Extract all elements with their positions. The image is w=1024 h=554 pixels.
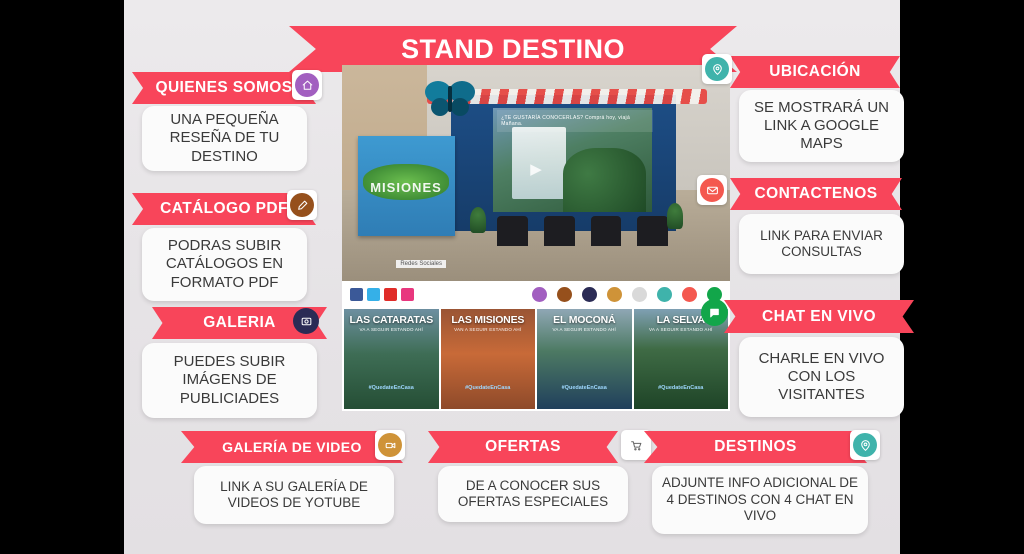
youtube-icon[interactable] <box>384 288 397 301</box>
instagram-icon[interactable] <box>401 288 414 301</box>
destination-card[interactable]: LAS MISIONES VAN A SEGUIR ESTANDO AHÍ #Q… <box>441 309 536 409</box>
section-body-quienes-somos: UNA PEQUEÑA RESEÑA DE TU DESTINO <box>142 106 307 171</box>
destination-hashtag: #QuedateEnCasa <box>537 385 632 391</box>
section-label-contactenos[interactable]: CONTACTENOS <box>730 178 902 210</box>
label-text: UBICACIÓN <box>769 63 860 81</box>
social-network-icons <box>350 288 414 301</box>
label-text: CATÁLOGO PDF <box>160 200 288 218</box>
image-icon[interactable] <box>582 287 597 302</box>
body-text: PUEDES SUBIR IMÁGENS DE PUBLICIADES <box>150 353 309 408</box>
location-pin-icon-badge[interactable] <box>702 54 732 84</box>
destination-subtitle: VA A SEGUIR ESTANDO AHÍ <box>634 327 729 332</box>
label-text: GALERIA <box>203 314 276 332</box>
location-pin-icon[interactable] <box>853 433 877 457</box>
facebook-icon[interactable] <box>350 288 363 301</box>
label-text: DESTINOS <box>714 438 796 456</box>
social-links-bar <box>342 281 730 307</box>
destination-title: LAS CATARATAS <box>344 314 439 326</box>
misiones-poster[interactable]: MISIONES <box>358 136 455 235</box>
image-icon[interactable] <box>293 308 319 334</box>
stand-plant-right <box>667 203 683 229</box>
label-text: OFERTAS <box>485 438 561 456</box>
chat-bubble-icon[interactable] <box>701 299 728 326</box>
body-text: CHARLE EN VIVO CON LOS VISITANTES <box>747 350 896 405</box>
stand-plant-left <box>470 207 486 233</box>
location-pin-icon[interactable] <box>657 287 672 302</box>
section-body-galeria: PUEDES SUBIR IMÁGENS DE PUBLICIADES <box>142 343 317 418</box>
destination-hashtag: #QuedateEnCasa <box>441 385 536 391</box>
destinos-location-pin-icon-badge[interactable] <box>850 430 880 460</box>
label-text: CHAT EN VIVO <box>762 308 876 326</box>
destination-hashtag: #QuedateEnCasa <box>344 385 439 391</box>
section-body-catalogo-pdf: PODRAS SUBIR CATÁLOGOS EN FORMATO PDF <box>142 228 307 301</box>
section-body-destinos: ADJUNTE INFO ADICIONAL DE 4 DESTINOS CON… <box>652 466 868 534</box>
label-text: CONTACTENOS <box>755 185 878 203</box>
destination-cards: LAS CATARATAS VA A SEGUIR ESTANDO AHÍ #Q… <box>342 307 730 411</box>
body-text: ADJUNTE INFO ADICIONAL DE 4 DESTINOS CON… <box>660 475 860 524</box>
section-label-galeria-de-video[interactable]: GALERÍA DE VIDEO <box>181 431 403 463</box>
body-text: LINK PARA ENVIAR CONSULTAS <box>747 228 896 261</box>
label-text: QUIENES SOMOS <box>156 79 293 97</box>
home-icon[interactable] <box>532 287 547 302</box>
location-pin-icon[interactable] <box>705 57 729 81</box>
destination-subtitle: VA A SEGUIR ESTANDO AHÍ <box>344 327 439 332</box>
page-title-text: STAND DESTINO <box>401 34 625 65</box>
image-icon-badge[interactable] <box>293 308 319 334</box>
video-camera-icon-badge[interactable] <box>375 430 405 460</box>
pencil-icon[interactable] <box>290 193 314 217</box>
virtual-stand-image[interactable]: ¿TE GUSTARÍA CONOCERLAS? Comprá hoy, via… <box>342 65 730 281</box>
stand-feature-icons <box>532 287 722 302</box>
twitter-icon[interactable] <box>367 288 380 301</box>
label-text: GALERÍA DE VIDEO <box>222 439 362 455</box>
slide-canvas: STAND DESTINO ¿TE GUSTARÍA CONOCERLAS? C… <box>124 0 900 554</box>
poster-title: MISIONES <box>358 180 455 195</box>
section-body-contactenos: LINK PARA ENVIAR CONSULTAS <box>739 214 904 274</box>
body-text: SE MOSTRARÁ UN LINK A GOOGLE MAPS <box>747 99 896 154</box>
envelope-icon[interactable] <box>682 287 697 302</box>
destination-subtitle: VAN A SEGUIR ESTANDO AHÍ <box>441 327 536 332</box>
body-text: PODRAS SUBIR CATÁLOGOS EN FORMATO PDF <box>150 237 299 292</box>
jungle-graphic <box>563 148 646 212</box>
section-body-chat-en-vivo: CHARLE EN VIVO CON LOS VISITANTES <box>739 337 904 417</box>
destination-card[interactable]: LAS CATARATAS VA A SEGUIR ESTANDO AHÍ #Q… <box>344 309 439 409</box>
chat-bubble-icon-badge[interactable] <box>701 299 728 326</box>
pencil-icon[interactable] <box>557 287 572 302</box>
section-body-ubicacion: SE MOSTRARÁ UN LINK A GOOGLE MAPS <box>739 90 904 162</box>
screen-banner-text: ¿TE GUSTARÍA CONOCERLAS? Comprá hoy, via… <box>497 110 652 132</box>
home-icon-badge[interactable] <box>292 70 322 100</box>
play-icon[interactable]: ▶ <box>530 160 542 178</box>
section-label-chat-en-vivo[interactable]: CHAT EN VIVO <box>724 300 914 333</box>
section-label-ubicacion[interactable]: UBICACIÓN <box>730 56 900 88</box>
stand-chairs <box>497 216 668 246</box>
screenshot-stage: STAND DESTINO ¿TE GUSTARÍA CONOCERLAS? C… <box>0 0 1024 554</box>
section-label-ofertas[interactable]: OFERTAS <box>428 431 618 463</box>
video-camera-icon[interactable] <box>607 287 622 302</box>
pencil-icon-badge[interactable] <box>287 190 317 220</box>
shopping-cart-icon-badge[interactable] <box>621 430 651 460</box>
shopping-cart-icon[interactable] <box>624 433 648 457</box>
section-label-destinos[interactable]: DESTINOS <box>644 431 867 463</box>
destination-hashtag: #QuedateEnCasa <box>634 385 729 391</box>
section-body-galeria-de-video: LINK A SU GALERÍA DE VIDEOS DE YOTUBE <box>194 466 394 524</box>
body-text: LINK A SU GALERÍA DE VIDEOS DE YOTUBE <box>202 479 386 512</box>
butterfly-icon <box>423 78 477 118</box>
destination-card[interactable]: EL MOCONÁ VA A SEGUIR ESTANDO AHÍ #Queda… <box>537 309 632 409</box>
destination-title: EL MOCONÁ <box>537 314 632 326</box>
body-text: UNA PEQUEÑA RESEÑA DE TU DESTINO <box>150 111 299 166</box>
video-camera-icon[interactable] <box>378 433 402 457</box>
destination-subtitle: VA A SEGUIR ESTANDO AHÍ <box>537 327 632 332</box>
section-body-ofertas: DE A CONOCER SUS OFERTAS ESPECIALES <box>438 466 628 522</box>
shopping-cart-icon[interactable] <box>632 287 647 302</box>
envelope-icon-badge[interactable] <box>697 175 727 205</box>
body-text: DE A CONOCER SUS OFERTAS ESPECIALES <box>446 478 620 511</box>
envelope-icon[interactable] <box>700 178 724 202</box>
home-icon[interactable] <box>295 73 319 97</box>
section-label-quienes-somos[interactable]: QUIENES SOMOS <box>132 72 316 104</box>
destination-title: LAS MISIONES <box>441 314 536 326</box>
redes-sociales-label: Redes Sociales <box>396 260 446 268</box>
